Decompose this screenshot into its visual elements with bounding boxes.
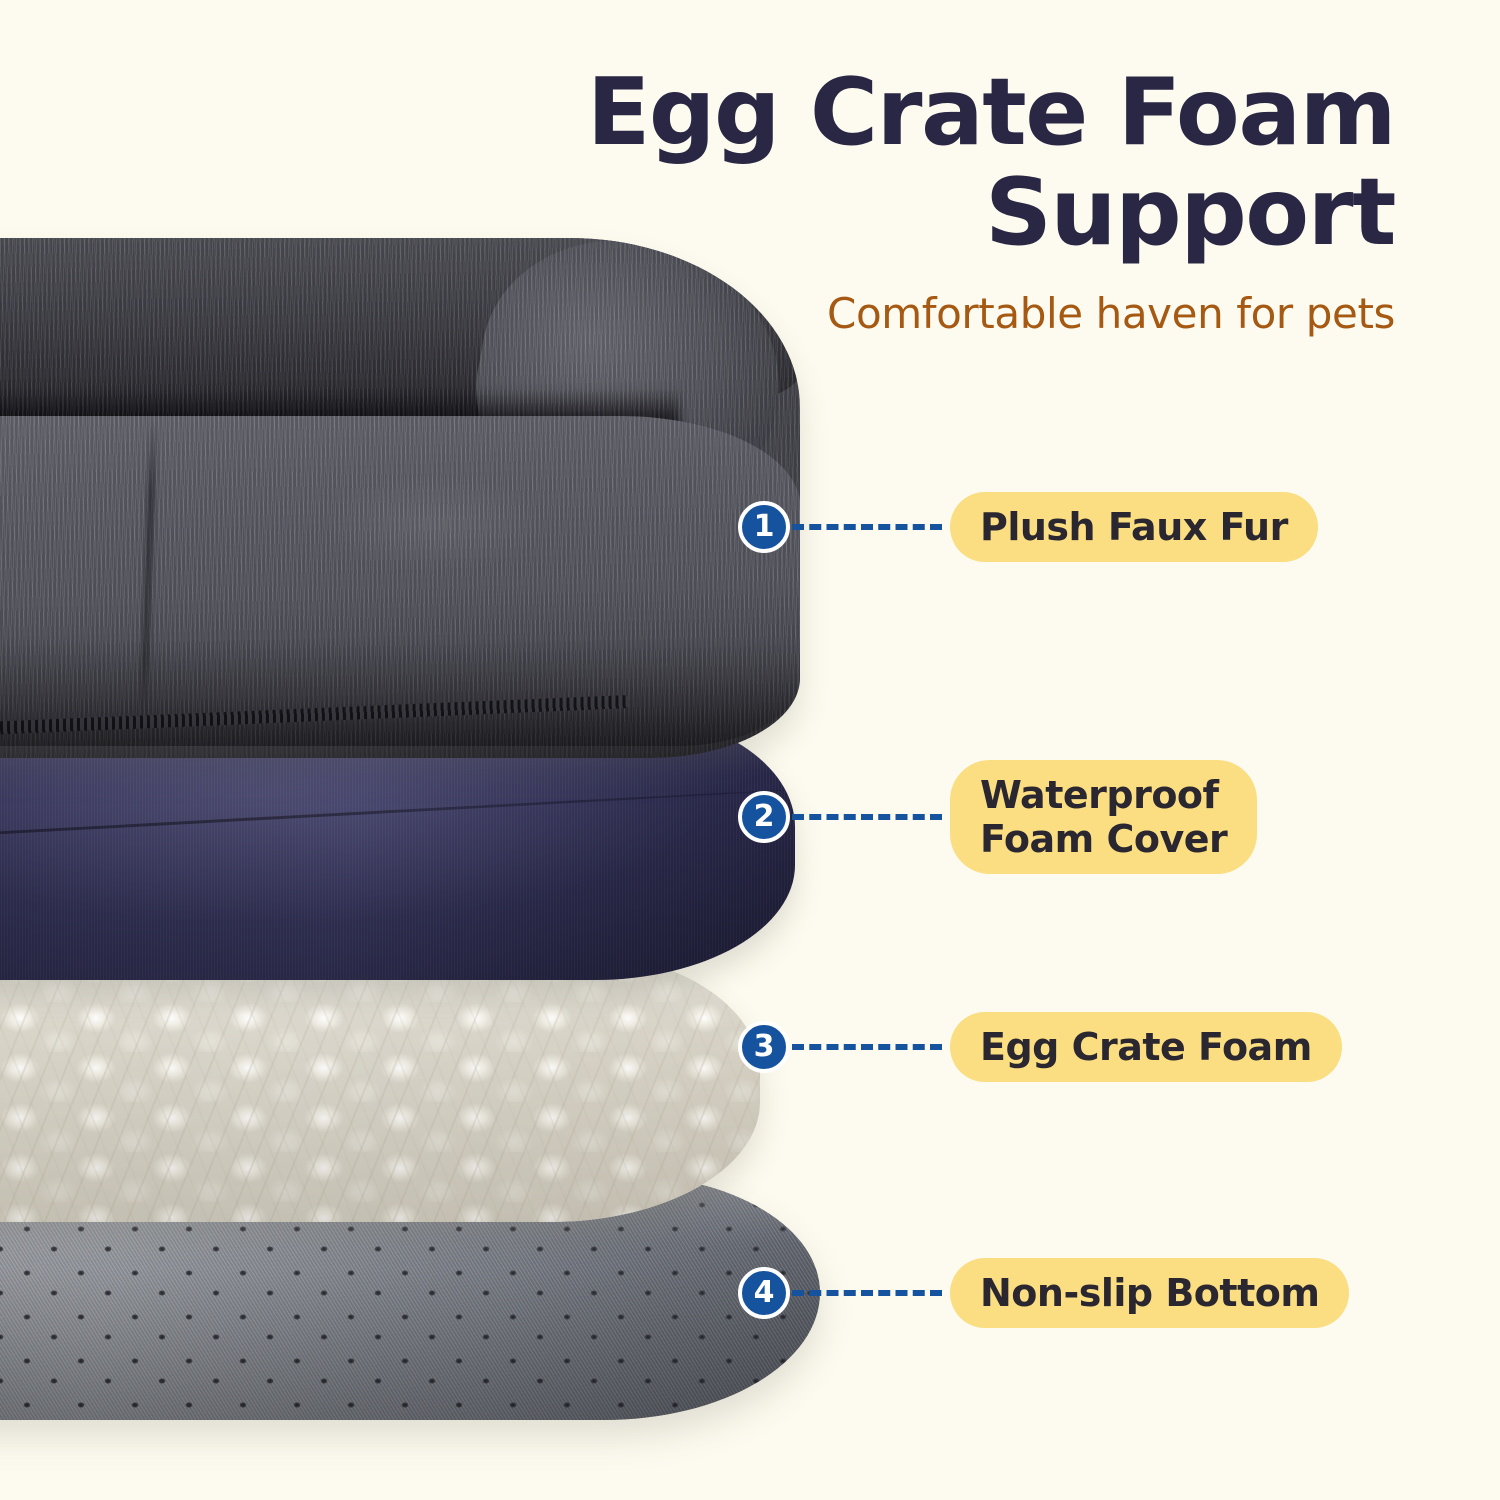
- callout-badge-2: 2: [738, 791, 790, 843]
- callout-badge-4: 4: [738, 1267, 790, 1319]
- infographic-canvas: Egg Crate Foam Support Comfortable haven…: [0, 0, 1500, 1500]
- callout-label-3: Egg Crate Foam: [950, 1012, 1342, 1082]
- header-block: Egg Crate Foam Support Comfortable haven…: [555, 62, 1395, 339]
- callout-plush-faux-fur[interactable]: 1 Plush Faux Fur: [738, 492, 1318, 562]
- page-subtitle: Comfortable haven for pets: [555, 289, 1395, 339]
- callout-waterproof-foam-cover[interactable]: 2 Waterproof Foam Cover: [738, 760, 1257, 874]
- callout-non-slip-bottom[interactable]: 4 Non-slip Bottom: [738, 1258, 1349, 1328]
- callout-badge-1: 1: [738, 501, 790, 553]
- leader-line-2: [792, 814, 942, 820]
- callout-egg-crate-foam[interactable]: 3 Egg Crate Foam: [738, 1012, 1342, 1082]
- callout-label-4: Non-slip Bottom: [950, 1258, 1349, 1328]
- layer-shading: [0, 952, 760, 1222]
- callout-badge-3: 3: [738, 1021, 790, 1073]
- leader-line-3: [792, 1044, 942, 1050]
- product-layer-egg-crate-foam: [0, 952, 760, 1222]
- layer-shading: [0, 638, 800, 758]
- callout-label-2: Waterproof Foam Cover: [950, 760, 1257, 874]
- leader-line-1: [792, 524, 942, 530]
- leader-line-4: [792, 1290, 942, 1296]
- page-title: Egg Crate Foam Support: [555, 62, 1395, 263]
- callout-label-1: Plush Faux Fur: [950, 492, 1318, 562]
